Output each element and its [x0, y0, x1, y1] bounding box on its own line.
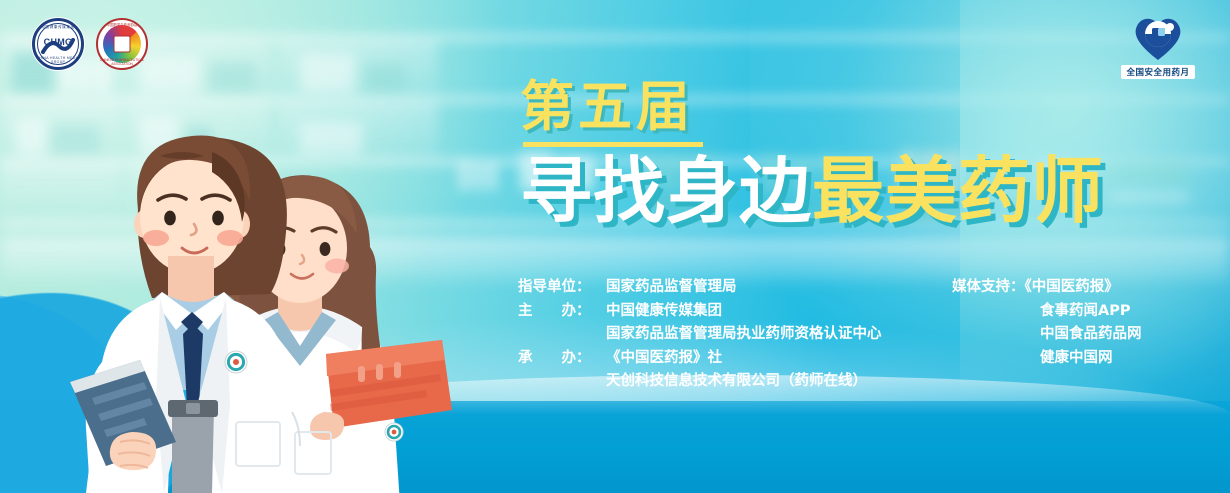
credit-label: 主 办： [518, 300, 606, 324]
credit-row: 国家药品监督管理局执业药师资格认证中心 [518, 323, 882, 347]
chmg-logo: 中国健康传媒集团 CHMG CHINA HEALTH MEDIA GROUP [32, 18, 84, 70]
credit-value: 国家药品监督管理局执业药师资格认证中心 [606, 323, 882, 347]
credit-row: 食事药闻APP [952, 300, 1142, 324]
credit-row: 健康中国网 [952, 347, 1142, 371]
title-main-yellow: 最美药师 [812, 149, 1104, 233]
chmg-logo-arc-bottom: CHINA HEALTH MEDIA GROUP [35, 56, 81, 64]
credit-row: 媒体支持：《中国医药报》 [952, 276, 1142, 300]
title-edition: 第五届 [520, 78, 1104, 136]
credit-value: 中国食品药品网 [1040, 326, 1142, 342]
credit-value: 健康中国网 [1040, 350, 1113, 366]
organization-logos: 中国健康传媒集团 CHMG CHINA HEALTH MEDIA GROUP 中… [32, 18, 148, 70]
credit-value: 食事药闻APP [1040, 303, 1130, 319]
title-block: 第五届 寻找身边最美药师 [520, 78, 1104, 229]
credit-row: 天创科技信息技术有限公司（药师在线） [518, 370, 882, 394]
credit-label: 媒体支持： [952, 279, 1025, 295]
credit-value: 中国健康传媒集团 [606, 300, 722, 324]
title-main: 寻找身边最美药师 [520, 153, 1104, 229]
chmg-wave-icon [41, 34, 75, 58]
credits-left: 指导单位：国家药品监督管理局 主 办：中国健康传媒集团 国家药品监督管理局执业药… [518, 276, 882, 394]
pharmacist-association-logo: 中国药学会药师协会 CHINESE PHARMACEUTICAL ASSOCIA… [96, 18, 148, 70]
assoc-logo-arc-bottom: CHINESE PHARMACEUTICAL ASSOCIATION [98, 58, 146, 66]
credit-row: 主 办：中国健康传媒集团 [518, 300, 882, 324]
title-divider [523, 142, 703, 147]
pharmacist-illustration [40, 60, 460, 493]
banner-poster: 中国健康传媒集团 CHMG CHINA HEALTH MEDIA GROUP 中… [0, 0, 1230, 493]
credit-value: 国家药品监督管理局 [606, 276, 737, 300]
credit-row: 中国食品药品网 [952, 323, 1142, 347]
chmg-logo-arc-top: 中国健康传媒集团 [35, 25, 81, 30]
heart-icon [1131, 14, 1185, 62]
credit-label: 指导单位： [518, 276, 606, 300]
credit-row: 承 办：《中国医药报》社 [518, 347, 882, 371]
credits-right: 媒体支持：《中国医药报》 食事药闻APP 中国食品药品网 健康中国网 [952, 276, 1142, 370]
national-drug-safety-month-logo: 全国安全用药月 [1112, 14, 1204, 80]
safety-month-caption: 全国安全用药月 [1121, 65, 1194, 79]
credit-value: 天创科技信息技术有限公司（药师在线） [606, 370, 867, 394]
credit-label: 承 办： [518, 347, 606, 371]
credit-value: 《中国医药报》社 [606, 347, 722, 371]
title-main-white: 寻找身边 [520, 149, 812, 233]
credit-value: 《中国医药报》 [1025, 279, 1119, 295]
credit-row: 指导单位：国家药品监督管理局 [518, 276, 882, 300]
